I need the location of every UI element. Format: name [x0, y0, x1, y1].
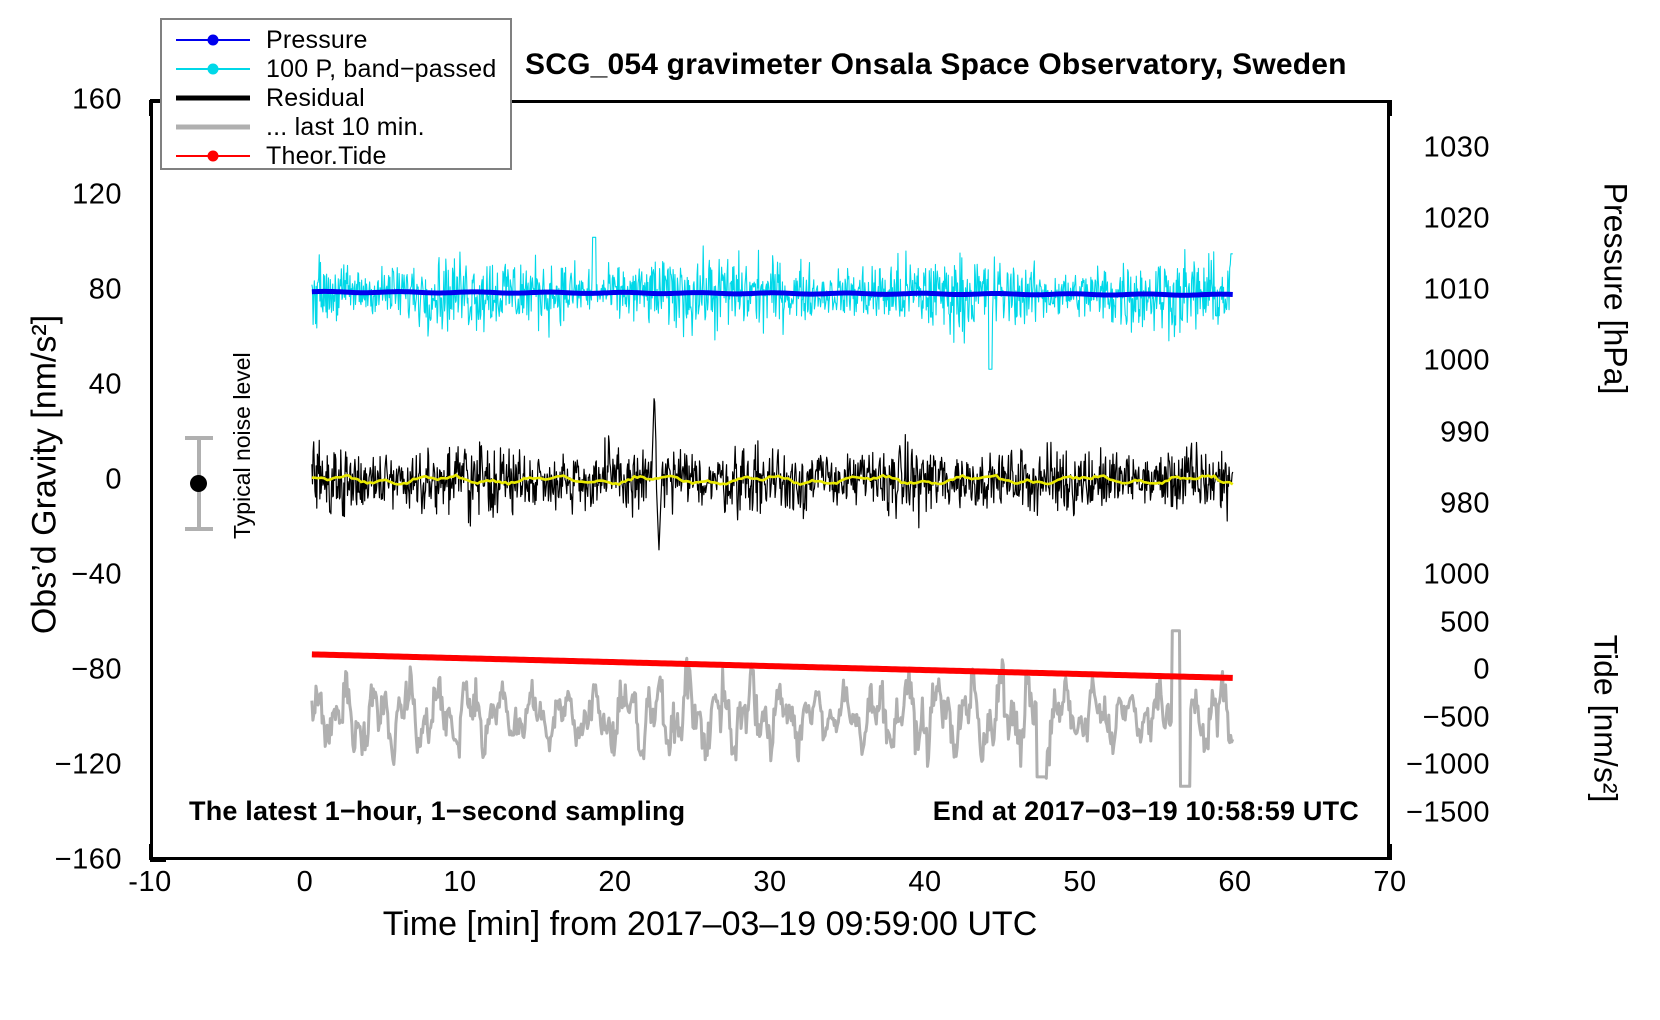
legend: Pressure100 P, band−passedResidual... la… — [160, 18, 512, 170]
tide-axis-tick-labels: 10005000−500−1000−1500 — [1404, 100, 1524, 860]
y-tick-label: 120 — [72, 179, 122, 212]
legend-label: ... last 10 min. — [266, 113, 425, 142]
legend-marker-dot — [208, 151, 219, 162]
typical-noise-level-annotation: Typical noise level — [153, 103, 225, 857]
x-tick-label: 10 — [443, 866, 476, 899]
legend-label: Theor.Tide — [266, 142, 387, 171]
legend-line — [176, 125, 250, 130]
legend-swatch-icon — [174, 28, 252, 52]
x-tick-label: 70 — [1373, 866, 1406, 899]
last-10-min-series — [312, 631, 1233, 787]
plot-frame: Typical noise level The latest 1−hour, 1… — [150, 100, 1390, 860]
residual-series — [312, 399, 1233, 550]
y-tick-label: −120 — [55, 749, 122, 782]
bandpassed-pressure-series — [312, 237, 1233, 369]
legend-swatch-icon — [174, 115, 252, 139]
x-tick-label: 40 — [908, 866, 941, 899]
legend-item[interactable]: Residual — [162, 84, 510, 112]
sampling-note: The latest 1−hour, 1−second sampling — [189, 796, 685, 827]
page-title: SCG_054 gravimeter Onsala Space Observat… — [525, 48, 1347, 82]
tide-tick-label: −500 — [1404, 701, 1490, 734]
legend-swatch-icon — [174, 86, 252, 110]
tide-axis-title: Tide [nm/s²] — [1587, 569, 1624, 869]
y-tick-label: 80 — [89, 274, 122, 307]
noise-bar-top-cap — [185, 436, 213, 440]
noise-center-dot — [190, 475, 207, 492]
tide-tick-label: 0 — [1404, 654, 1490, 687]
tide-tick-label: −1500 — [1404, 796, 1490, 829]
legend-swatch-icon — [174, 57, 252, 81]
y-tick-label: −40 — [71, 559, 122, 592]
legend-item[interactable]: 100 P, band−passed — [162, 55, 510, 83]
x-tick-label: -10 — [128, 866, 171, 899]
legend-label: 100 P, band−passed — [266, 55, 496, 84]
tide-tick-label: 1000 — [1404, 559, 1490, 592]
x-tick-label: 20 — [598, 866, 631, 899]
series-canvas — [153, 103, 1387, 857]
y-tick-label: 40 — [89, 369, 122, 402]
legend-line — [176, 96, 250, 101]
legend-label: Pressure — [266, 26, 368, 55]
x-tick-label: 50 — [1063, 866, 1096, 899]
gravimeter-chart-page: SCG_054 gravimeter Onsala Space Observat… — [0, 0, 1660, 1020]
tide-tick-label: 500 — [1404, 606, 1490, 639]
legend-item[interactable]: ... last 10 min. — [162, 113, 510, 141]
y-tick-label: 0 — [105, 464, 122, 497]
legend-swatch-icon — [174, 144, 252, 168]
x-tick-label: 30 — [753, 866, 786, 899]
legend-marker-dot — [208, 64, 219, 75]
y-tick-label: 160 — [72, 84, 122, 117]
x-axis-tick-labels: -10010203040506070 — [150, 866, 1390, 906]
legend-item[interactable]: Pressure — [162, 26, 510, 54]
theoretical-tide-series — [312, 654, 1233, 678]
legend-label: Residual — [266, 84, 365, 113]
y-tick-label: −80 — [71, 654, 122, 687]
noise-annotation-label: Typical noise level — [229, 352, 256, 539]
x-tick-label: 60 — [1218, 866, 1251, 899]
x-tick-label: 0 — [297, 866, 314, 899]
noise-bar-bottom-cap — [185, 527, 213, 531]
end-time-note: End at 2017−03−19 10:58:59 UTC — [933, 796, 1359, 827]
x-axis-title: Time [min] from 2017‒03‒19 09:59:00 UTC — [0, 905, 1420, 944]
plot-area: Typical noise level The latest 1−hour, 1… — [153, 103, 1387, 857]
pressure-axis-title: Pressure [hPa] — [1597, 129, 1634, 449]
tide-tick-label: −1000 — [1404, 749, 1490, 782]
y-tick-label: −160 — [55, 844, 122, 877]
legend-marker-dot — [208, 35, 219, 46]
y-axis-tick-labels: 16012080400−40−80−120−160 — [0, 100, 138, 860]
legend-item[interactable]: Theor.Tide — [162, 142, 510, 170]
